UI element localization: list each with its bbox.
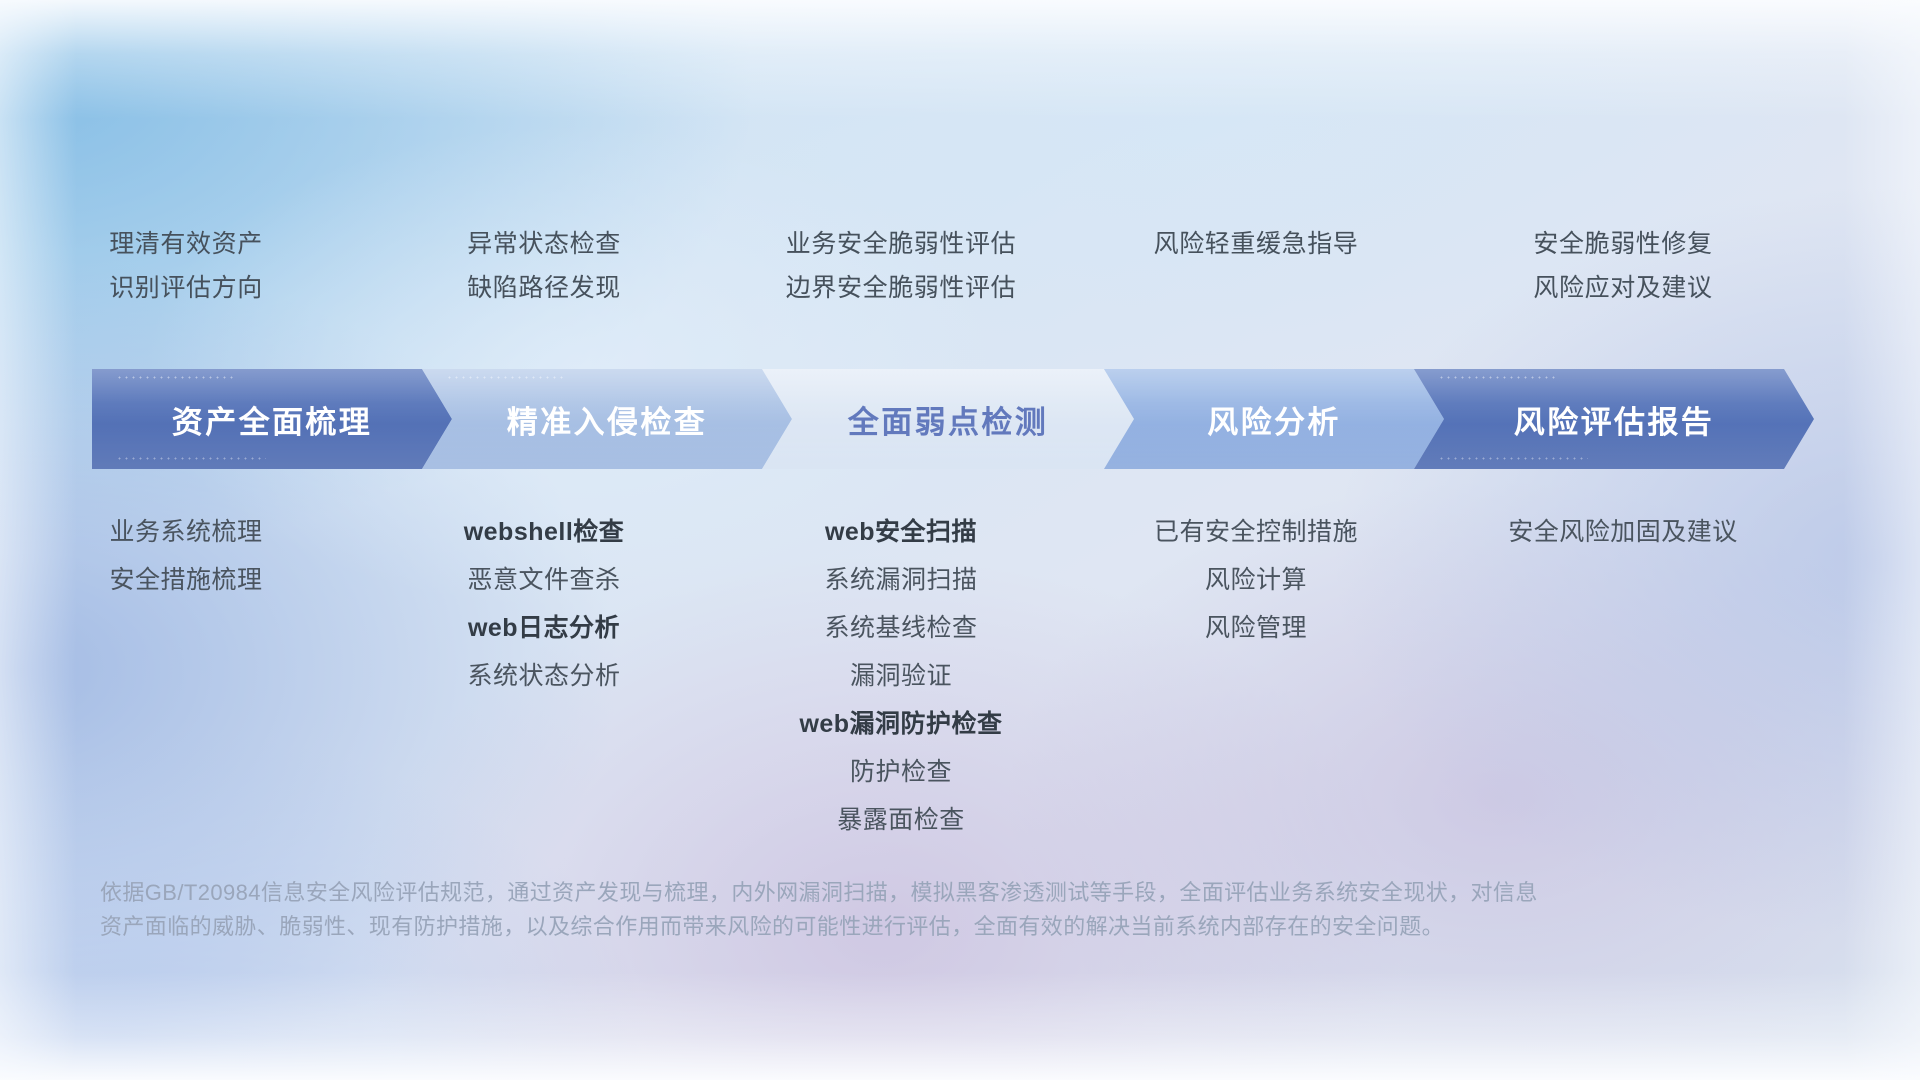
detail-item: 已有安全控制措施 xyxy=(1154,515,1358,549)
top-captions-stage-1: 理清有效资产 识别评估方向 xyxy=(0,228,372,304)
detail-item: 防护检查 xyxy=(850,755,952,789)
process-stage-3-chevron[interactable]: 全面弱点检测 xyxy=(762,369,1134,469)
chevron-dot-texture xyxy=(446,374,566,383)
chevron-dot-texture xyxy=(116,455,266,464)
caption-text: 识别评估方向 xyxy=(109,272,263,304)
slide-canvas: 理清有效资产 识别评估方向 异常状态检查 缺陷路径发现 业务安全脆弱性评估 边界… xyxy=(0,0,1920,1080)
process-arrow-band: 资产全面梳理 精准入侵检查 全面弱点检测 风险分析 风险评估报告 xyxy=(92,369,1850,469)
stage-3-detail-list: web安全扫描 系统漏洞扫描 系统基线检查 漏洞验证 web漏洞防护检查 防护检… xyxy=(716,515,1086,837)
process-stage-label: 资产全面梳理 xyxy=(172,397,372,442)
chevron-dot-texture xyxy=(1438,455,1588,464)
stage-details-row: 业务系统梳理 安全措施梳理 webshell检查 恶意文件查杀 web日志分析 … xyxy=(0,515,1920,837)
detail-item: 暴露面检查 xyxy=(837,803,965,837)
process-stage-4-chevron[interactable]: 风险分析 xyxy=(1104,369,1444,469)
detail-item: web安全扫描 xyxy=(825,515,977,549)
process-stage-2-chevron[interactable]: 精准入侵检查 xyxy=(422,369,792,469)
footer-line-2: 资产面临的威胁、脆弱性、现有防护措施，以及综合作用而带来风险的可能性进行评估，全… xyxy=(100,910,1740,944)
detail-item: web漏洞防护检查 xyxy=(799,707,1002,741)
chevron-dot-texture xyxy=(116,374,236,383)
detail-item: 安全措施梳理 xyxy=(109,563,262,597)
detail-item: 系统基线检查 xyxy=(824,611,977,645)
caption-text: 理清有效资产 xyxy=(109,228,263,260)
top-captions-row: 理清有效资产 识别评估方向 异常状态检查 缺陷路径发现 业务安全脆弱性评估 边界… xyxy=(0,228,1920,304)
stage-4-detail-list: 已有安全控制措施 风险计算 风险管理 xyxy=(1086,515,1426,837)
footer-line-1: 依据GB/T20984信息安全风险评估规范，通过资产发现与梳理，内外网漏洞扫描，… xyxy=(100,876,1740,910)
caption-text: 业务安全脆弱性评估 xyxy=(786,228,1016,260)
caption-text: 风险轻重缓急指导 xyxy=(1154,228,1359,260)
process-stage-1-chevron[interactable]: 资产全面梳理 xyxy=(92,369,452,469)
caption-text: 边界安全脆弱性评估 xyxy=(786,272,1016,304)
stage-1-detail-list: 业务系统梳理 安全措施梳理 xyxy=(0,515,372,837)
top-captions-stage-4: 风险轻重缓急指导 xyxy=(1086,228,1426,304)
caption-text: 异常状态检查 xyxy=(467,228,621,260)
detail-item: 漏洞验证 xyxy=(850,659,952,693)
top-captions-stage-5: 安全脆弱性修复 风险应对及建议 xyxy=(1426,228,1820,304)
detail-item: 风险计算 xyxy=(1205,563,1307,597)
process-stage-label: 全面弱点检测 xyxy=(848,397,1048,442)
process-stage-label: 风险评估报告 xyxy=(1514,397,1714,442)
detail-item: 系统漏洞扫描 xyxy=(824,563,977,597)
stage-2-detail-list: webshell检查 恶意文件查杀 web日志分析 系统状态分析 xyxy=(372,515,716,837)
process-stage-label: 精准入侵检查 xyxy=(507,397,707,442)
stage-5-detail-list: 安全风险加固及建议 xyxy=(1426,515,1820,837)
footer-description: 依据GB/T20984信息安全风险评估规范，通过资产发现与梳理，内外网漏洞扫描，… xyxy=(100,876,1740,944)
slide-content: 理清有效资产 识别评估方向 异常状态检查 缺陷路径发现 业务安全脆弱性评估 边界… xyxy=(0,0,1920,1080)
caption-text: 风险应对及建议 xyxy=(1533,272,1712,304)
top-captions-stage-2: 异常状态检查 缺陷路径发现 xyxy=(372,228,716,304)
caption-text: 缺陷路径发现 xyxy=(467,272,621,304)
detail-item: 业务系统梳理 xyxy=(109,515,262,549)
chevron-dot-texture xyxy=(1438,374,1558,383)
detail-item: 安全风险加固及建议 xyxy=(1508,515,1738,549)
process-stage-5-chevron[interactable]: 风险评估报告 xyxy=(1414,369,1814,469)
caption-text: 安全脆弱性修复 xyxy=(1533,228,1712,260)
detail-item: 风险管理 xyxy=(1205,611,1307,645)
process-stage-label: 风险分析 xyxy=(1207,397,1341,442)
detail-item: webshell检查 xyxy=(464,515,625,549)
detail-item: web日志分析 xyxy=(468,611,620,645)
detail-item: 恶意文件查杀 xyxy=(467,563,620,597)
top-captions-stage-3: 业务安全脆弱性评估 边界安全脆弱性评估 xyxy=(716,228,1086,304)
detail-item: 系统状态分析 xyxy=(467,659,620,693)
